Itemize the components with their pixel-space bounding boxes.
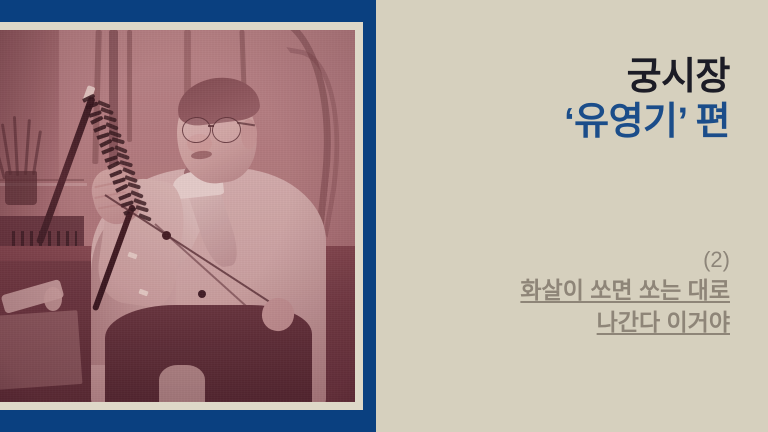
subtitle-line-2: 나간다 이거야: [520, 306, 730, 339]
photo-frame: [0, 22, 363, 410]
photograph: [0, 30, 355, 402]
title-block: 궁시장 ‘유영기’ 편: [564, 56, 730, 143]
hand-tool-knob: [44, 287, 62, 311]
bamboo-rod: [127, 30, 132, 142]
workbench: [0, 310, 83, 390]
title-line-1: 궁시장: [564, 56, 730, 99]
title-line-2: ‘유영기’ 편: [564, 101, 730, 144]
subtitle-line-1: 화살이 쏘면 쏘는 대로: [520, 274, 730, 307]
eyeglasses-bridge: [208, 125, 214, 127]
episode-number: (2): [520, 246, 730, 274]
brush-pot: [5, 171, 37, 204]
navy-panel: [0, 0, 376, 432]
subtitle-block: (2) 화살이 쏘면 쏘는 대로 나간다 이거야: [520, 246, 730, 339]
photo-scene: [0, 30, 355, 402]
title-card: 궁시장 ‘유영기’ 편 (2) 화살이 쏘면 쏘는 대로 나간다 이거야: [0, 0, 768, 432]
sock: [159, 365, 205, 402]
text-column: 궁시장 ‘유영기’ 편 (2) 화살이 쏘면 쏘는 대로 나간다 이거야: [380, 0, 768, 432]
